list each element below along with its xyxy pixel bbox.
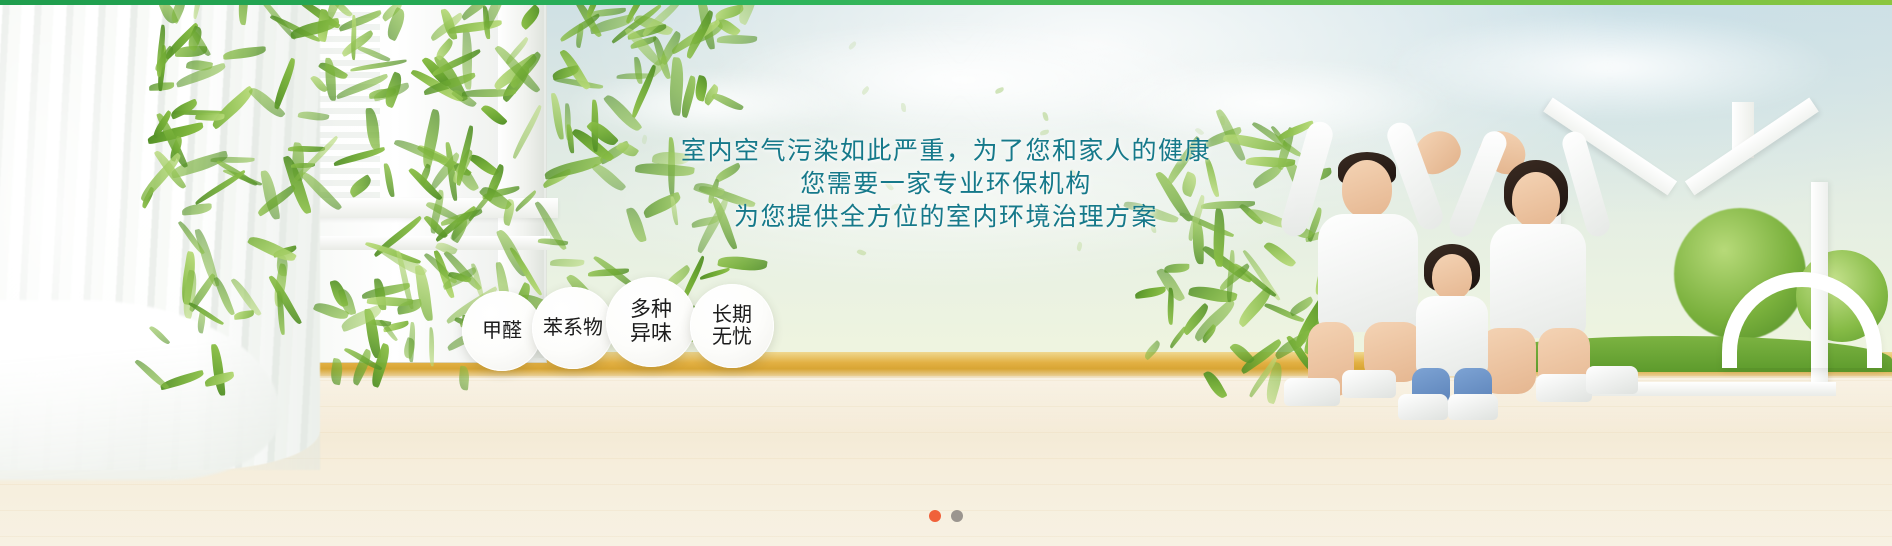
badge-odors[interactable]: 多种 异味 [606,277,696,367]
headline-line-2: 您需要一家专业环保机构 [0,168,1892,201]
floating-petal [900,103,905,112]
father-shoe-right [1342,370,1396,398]
badge-odors-line1: 多种 [630,298,672,321]
headline-line-3: 为您提供全方位的室内环境治理方案 [0,201,1892,234]
badge-long-term-line1: 长期 [712,304,752,326]
curtain-fold [0,300,280,480]
hero-banner: 室内空气污染如此严重，为了您和家人的健康 您需要一家专业环保机构 为您提供全方位… [0,0,1892,546]
headline-block: 室内空气污染如此严重，为了您和家人的健康 您需要一家专业环保机构 为您提供全方位… [0,135,1892,234]
top-green-rule [0,0,1892,5]
child-head [1432,254,1472,300]
child-shoe-right [1448,394,1498,420]
feature-badge-group: 甲醛 苯系物 多种 异味 长期 无忧 [462,275,768,371]
badge-formaldehyde-label: 甲醛 [478,320,526,342]
badge-benzene[interactable]: 苯系物 [532,287,614,369]
badge-odors-label: 多种 异味 [626,298,676,345]
badge-benzene-label: 苯系物 [539,317,607,339]
badge-formaldehyde[interactable]: 甲醛 [462,291,542,371]
mother-torso [1490,224,1586,338]
carousel-dot-2[interactable] [951,510,963,522]
headline-line-1: 室内空气污染如此严重，为了您和家人的健康 [0,135,1892,168]
badge-long-term-label: 长期 无忧 [708,304,756,349]
carousel-pagination [0,510,1892,522]
badge-long-term-line2: 无忧 [712,326,752,348]
badge-long-term[interactable]: 长期 无忧 [690,284,774,368]
house-arch [1722,272,1882,368]
white-curtain [0,0,320,470]
father-shoe-left [1284,378,1340,406]
child-torso [1416,296,1488,376]
badge-odors-line2: 异味 [630,322,672,345]
carousel-dot-1[interactable] [929,510,941,522]
child-shoe-left [1398,394,1448,420]
window-sill-lower [292,236,550,250]
mother-shoe-left [1536,374,1592,402]
mother-shoe-right [1586,366,1638,394]
cloud-shape [560,70,860,140]
